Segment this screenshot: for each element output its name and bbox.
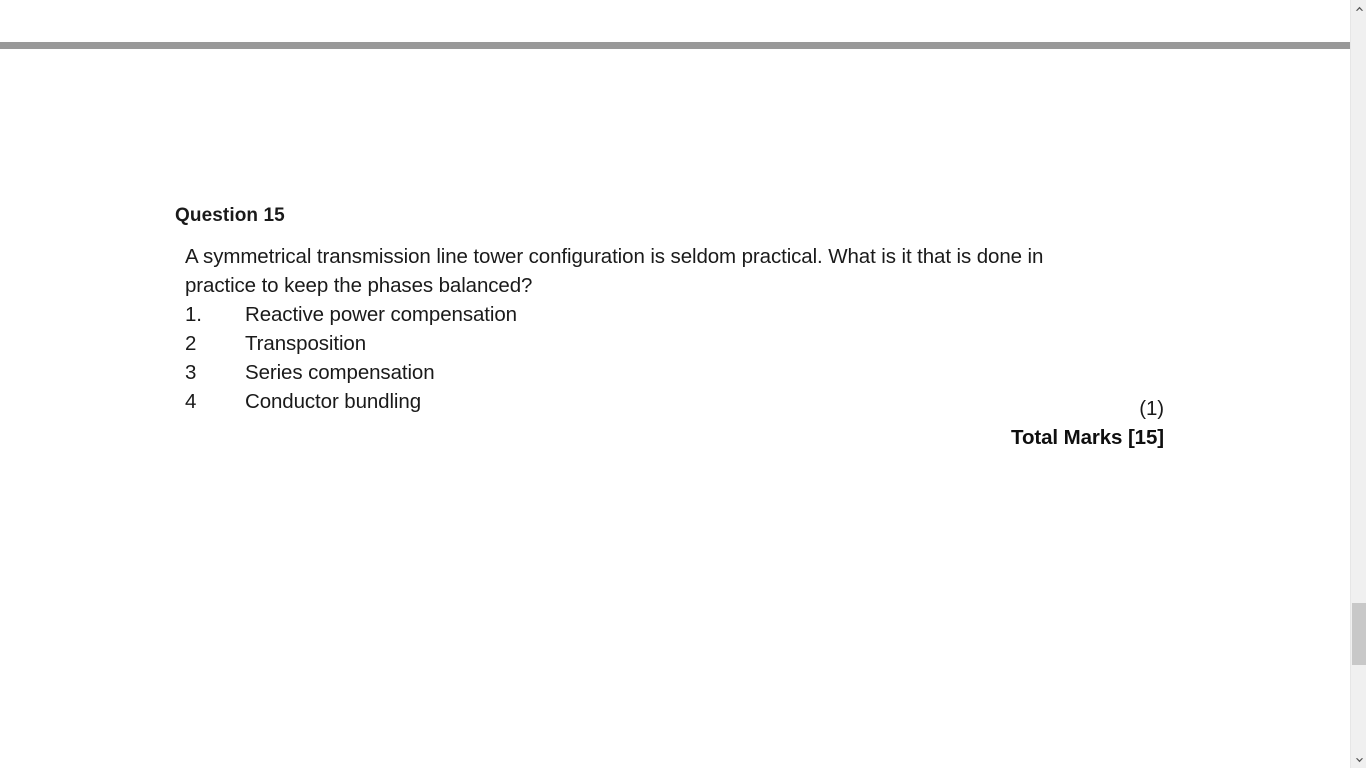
question-body: A symmetrical transmission line tower co…: [185, 242, 1100, 416]
option-number: 2: [185, 329, 245, 358]
question-heading: Question 15: [175, 204, 1175, 228]
option-number: 1.: [185, 300, 245, 329]
question-mark-value: (1): [700, 394, 1164, 423]
option-item-3[interactable]: 3 Series compensation: [185, 358, 1100, 387]
scroll-down-button[interactable]: [1351, 751, 1366, 768]
option-number: 4: [185, 387, 245, 416]
chevron-up-icon: [1355, 6, 1364, 12]
question-block: Question 15 A symmetrical transmission l…: [175, 204, 1175, 416]
option-label: Conductor bundling: [245, 387, 421, 416]
vertical-scrollbar[interactable]: [1350, 0, 1366, 768]
question-text: A symmetrical transmission line tower co…: [185, 242, 1100, 300]
header-separator-rule: [0, 42, 1350, 49]
document-viewport: Question 15 A symmetrical transmission l…: [0, 0, 1350, 768]
scrollbar-thumb[interactable]: [1352, 603, 1366, 665]
option-item-1[interactable]: 1. Reactive power compensation: [185, 300, 1100, 329]
document-page: Question 15 A symmetrical transmission l…: [0, 49, 1350, 768]
option-label: Reactive power compensation: [245, 300, 517, 329]
marks-block: (1) Total Marks [15]: [700, 394, 1164, 452]
option-label: Series compensation: [245, 358, 435, 387]
option-number: 3: [185, 358, 245, 387]
scroll-up-button[interactable]: [1351, 0, 1366, 17]
total-marks-label: Total Marks [15]: [700, 423, 1164, 452]
chevron-down-icon: [1355, 757, 1364, 763]
option-item-2[interactable]: 2 Transposition: [185, 329, 1100, 358]
option-label: Transposition: [245, 329, 366, 358]
